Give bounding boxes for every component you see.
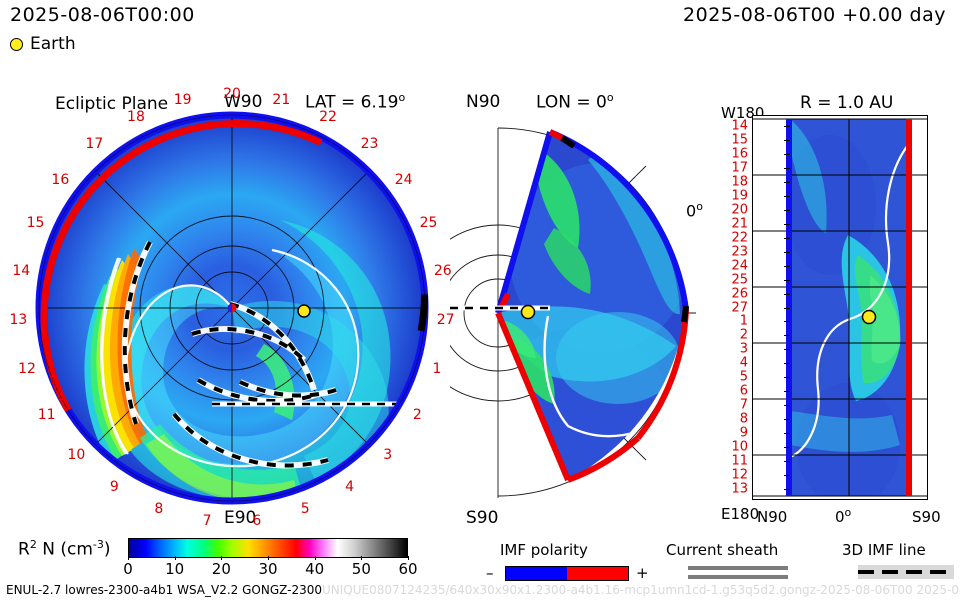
au-panel-title: R = 1.0 AU	[800, 93, 893, 113]
au-row-tick	[784, 266, 790, 267]
meridional-plot	[450, 108, 700, 508]
au-row-tick	[784, 252, 790, 253]
colorbar-tick-label: 50	[352, 560, 371, 578]
au-axis-left-label: N90	[757, 508, 787, 526]
au-panel[interactable]: 1415161718192021222324252627123456789101…	[752, 115, 928, 500]
au-row-tick	[784, 321, 790, 322]
au-row-label: 6	[740, 384, 748, 399]
au-row-label: 15	[731, 132, 748, 147]
ecliptic-ring-label: 3	[383, 447, 392, 463]
au-row-label: 18	[731, 174, 748, 189]
watermark-footer: UNIQUE0807124235/640x30x90x1.2300-a4b1.1…	[322, 583, 960, 597]
au-row-label: 13	[731, 482, 748, 497]
ecliptic-ring-label: 5	[301, 501, 310, 517]
au-row-tick	[784, 377, 790, 378]
ecliptic-ring-label: 23	[361, 136, 379, 152]
au-row-label: 16	[731, 146, 748, 161]
au-row-label: 26	[731, 286, 748, 301]
au-row-label: 22	[731, 230, 748, 245]
au-row-tick	[784, 280, 790, 281]
au-row-label: 14	[731, 118, 748, 133]
au-row-tick	[784, 489, 790, 490]
ecliptic-ring-label: 25	[420, 215, 438, 231]
ecliptic-ring-label: 14	[12, 263, 30, 279]
ecliptic-ring-label: 4	[345, 479, 354, 495]
au-row-label: 19	[731, 188, 748, 203]
au-row-label: 12	[731, 468, 748, 483]
au-row-label: 20	[731, 202, 748, 217]
au-row-tick	[784, 391, 790, 392]
ecliptic-plane-panel[interactable]: 1234567891011121314151617181920212223242…	[32, 108, 432, 508]
au-axis-center-degree: o	[845, 506, 852, 519]
ecliptic-ring-label: 20	[223, 86, 241, 102]
ecliptic-ring-label: 24	[395, 172, 413, 188]
ecliptic-ring-label: 10	[67, 447, 85, 463]
au-row-label: 5	[740, 370, 748, 385]
colorbar-tick-label: 10	[165, 560, 184, 578]
au-corner-bottom-left: E180	[721, 505, 759, 523]
colorbar-tick-label: 30	[258, 560, 277, 578]
ecliptic-ring-label: 2	[413, 407, 422, 423]
ecliptic-ring-label: 12	[18, 361, 36, 377]
ecliptic-ring-label: 1	[433, 361, 442, 377]
au-row-tick	[784, 335, 790, 336]
ecliptic-ring-label: 11	[38, 407, 56, 423]
au-row-tick	[784, 447, 790, 448]
au-row-tick	[784, 433, 790, 434]
au-row-label: 21	[731, 216, 748, 231]
model-info-footer: ENUL-2.7 lowres-2300-a4b1 WSA_V2.2 GONGZ…	[6, 583, 322, 597]
au-row-tick	[784, 363, 790, 364]
imf-polarity-legend-title: IMF polarity	[500, 541, 588, 559]
earth-legend-label: Earth	[30, 34, 76, 54]
au-row-label: 9	[740, 426, 748, 441]
ecliptic-ring-label: 13	[9, 312, 27, 328]
au-row-tick	[784, 419, 790, 420]
imf-line-legend-title: 3D IMF line	[842, 541, 926, 559]
ecliptic-ring-label: 6	[252, 513, 261, 529]
current-sheath-swatch	[688, 566, 788, 580]
au-row-label: 25	[731, 272, 748, 287]
au-row-tick	[784, 196, 790, 197]
ecliptic-ring-label: 22	[319, 109, 337, 125]
current-sheath-legend-title: Current sheath	[666, 541, 778, 559]
au-row-label: 4	[740, 356, 748, 371]
ecliptic-ring-label: 15	[27, 215, 45, 231]
au-row-label: 24	[731, 258, 748, 273]
meridional-plane-panel[interactable]: 0o	[450, 108, 700, 508]
au-row-tick	[784, 140, 790, 141]
au-row-tick	[784, 224, 790, 225]
colorbar-tick-label: 0	[123, 560, 133, 578]
ecliptic-plot	[32, 108, 432, 508]
lon-degree: o	[607, 91, 614, 104]
colorbar-label-r: R	[18, 540, 30, 560]
au-row-tick	[784, 182, 790, 183]
ecliptic-ring-label: 16	[51, 172, 69, 188]
timestamp-right: 2025-08-06T00 +0.00 day	[683, 4, 946, 26]
au-row-tick	[784, 349, 790, 350]
colorbar-label-exp2: -3	[93, 538, 104, 551]
au-row-tick	[784, 126, 790, 127]
au-row-label: 2	[740, 328, 748, 343]
au-row-tick	[784, 154, 790, 155]
ecliptic-ring-label: 17	[86, 136, 104, 152]
colorbar-tick-label: 60	[398, 560, 417, 578]
earth-dot-icon	[10, 38, 23, 51]
ecliptic-ring-label: 26	[434, 263, 452, 279]
au-row-label: 23	[731, 244, 748, 259]
colorbar-tick-label: 40	[305, 560, 324, 578]
ecliptic-ring-label: 18	[127, 109, 145, 125]
au-row-label: 10	[731, 440, 748, 455]
colorbar-label-close: )	[104, 540, 111, 560]
timestamp-left: 2025-08-06T00:00	[10, 4, 195, 26]
au-axis-center-value: 0	[835, 508, 845, 526]
au-axis-right-label: S90	[912, 508, 941, 526]
au-row-tick	[784, 475, 790, 476]
au-row-tick	[784, 294, 790, 295]
colorbar-label: R2 N (cm-3)	[18, 538, 111, 560]
earth-legend: Earth	[10, 34, 76, 54]
au-row-label: 11	[731, 454, 748, 469]
meridional-bottom-label: S90	[466, 508, 498, 528]
ecliptic-ring-label: 9	[110, 479, 119, 495]
ecliptic-ring-label: 8	[154, 501, 163, 517]
imf-negative-symbol: –	[486, 564, 494, 582]
au-row-label: 27	[731, 300, 748, 315]
au-row-tick	[784, 210, 790, 211]
colorbar-label-exp: 2	[30, 538, 37, 551]
au-row-tick	[784, 238, 790, 239]
colorbar-gradient	[128, 538, 408, 558]
au-row-tick	[784, 168, 790, 169]
lat-degree: o	[398, 91, 405, 104]
colorbar-ticks: 0102030405060	[128, 558, 408, 578]
au-row-label: 8	[740, 412, 748, 427]
colorbar-tick-label: 20	[212, 560, 231, 578]
imf-negative-swatch	[506, 567, 567, 580]
colorbar-label-rest: N (cm	[37, 540, 93, 560]
imf-line-swatch	[858, 565, 954, 579]
ecliptic-ring-label: 21	[272, 92, 290, 108]
imf-positive-swatch	[567, 567, 628, 580]
au-row-label: 3	[740, 342, 748, 357]
au-row-tick	[784, 461, 790, 462]
imf-polarity-swatch	[505, 566, 629, 581]
ecliptic-ring-label: 7	[203, 513, 212, 529]
au-plot	[752, 115, 928, 500]
au-row-label: 17	[731, 160, 748, 175]
ecliptic-ring-label: 19	[174, 92, 192, 108]
au-row-tick	[784, 405, 790, 406]
meridional-right-degree: o	[696, 200, 703, 213]
au-row-label: 7	[740, 398, 748, 413]
meridional-right-value: 0	[686, 201, 696, 220]
au-row-tick	[784, 308, 790, 309]
imf-positive-symbol: +	[636, 564, 649, 582]
meridional-right-label: 0o	[686, 200, 703, 220]
au-row-label: 1	[740, 314, 748, 329]
au-axis-center-label: 0o	[835, 506, 851, 526]
